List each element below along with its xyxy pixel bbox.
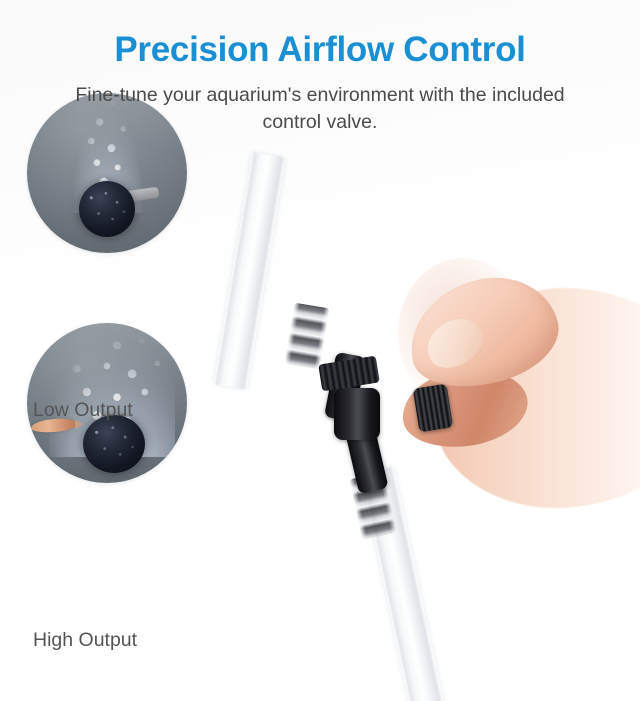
airstone-high [83, 415, 145, 473]
page-title: Precision Airflow Control [0, 30, 640, 70]
header: Precision Airflow Control Fine-tune your… [0, 0, 640, 136]
product-feature-banner: Precision Airflow Control Fine-tune your… [0, 0, 640, 701]
caption-low-output: Low Output [33, 399, 253, 422]
caption-high-output: High Output [33, 629, 253, 652]
airstone-texture [83, 415, 145, 473]
valve-body [334, 388, 380, 440]
subtitle-text: Fine-tune your aquarium's environment wi… [55, 82, 585, 136]
air-control-valve [320, 360, 450, 490]
valve-threaded-stem [318, 356, 380, 392]
airstone-low [79, 181, 135, 237]
upper-air-tube [213, 152, 285, 389]
airstone-texture [79, 181, 135, 237]
valve-adjustment-knob [413, 384, 453, 433]
